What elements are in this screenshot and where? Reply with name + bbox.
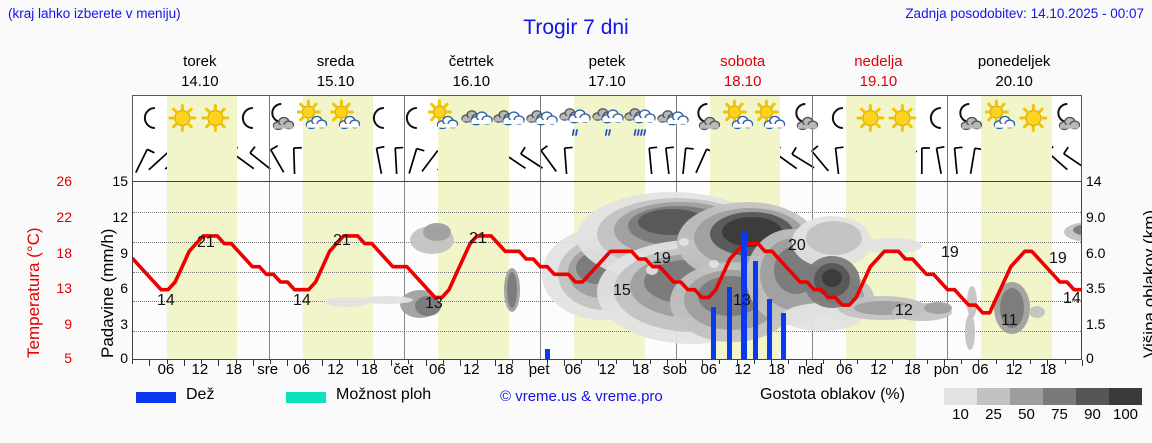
temperature-label: 19 (941, 244, 959, 262)
rain-bar (753, 261, 758, 359)
x-axis-tickmark (1065, 360, 1066, 364)
sun-icon (166, 97, 199, 141)
temperature-label: 21 (469, 230, 487, 248)
prec-axis-tick: 15 (96, 173, 128, 189)
last-update-text: Zadnja posodobitev: 14.10.2025 - 00:07 (905, 6, 1144, 21)
moon-cloud-icon (952, 97, 985, 141)
x-axis-tickmark (944, 360, 945, 366)
x-axis-tickmark (633, 360, 634, 366)
moon-icon (919, 97, 952, 141)
x-axis-tickmark (961, 360, 962, 364)
day-date: 15.10 (268, 72, 404, 92)
x-axis-tickmark (149, 360, 150, 366)
x-axis-tickmark (564, 360, 565, 366)
x-axis-tickmark (737, 360, 738, 366)
cloud-rain-icon (559, 97, 592, 141)
x-axis-tickmark (287, 360, 288, 366)
density-swatch (1109, 388, 1142, 405)
prec-axis-tick: 9 (96, 245, 128, 261)
temperature-label: 20 (788, 237, 806, 255)
cloud-icon (526, 97, 559, 141)
cld-axis-tick: 6.0 (1086, 245, 1118, 261)
prec-axis-tick: 3 (96, 316, 128, 332)
x-axis-tickmark (408, 360, 409, 364)
moon-icon (231, 97, 264, 141)
x-axis-tickmark (667, 360, 668, 366)
temperature-label: 13 (425, 295, 443, 313)
x-axis-tickmark (909, 360, 910, 366)
day-separator (947, 143, 948, 181)
x-axis-tickmark (702, 360, 703, 366)
day-date: 16.10 (403, 72, 539, 92)
day-header-četrtek: četrtek16.10 (403, 52, 539, 92)
x-axis-tickmark (996, 360, 997, 364)
day-separator (812, 143, 813, 181)
sun-cloud-icon (755, 97, 788, 141)
rain-bar (727, 287, 732, 359)
temp-axis-tick: 22 (40, 209, 72, 225)
day-name: torek (132, 52, 268, 72)
cloud-rain-icon (592, 97, 625, 141)
temperature-label: 11 (1001, 312, 1018, 330)
x-axis-tickmark (685, 360, 686, 364)
day-header-strip: torek14.10sreda15.10četrtek16.10petek17.… (132, 52, 1082, 95)
temperature-label: 21 (197, 234, 215, 252)
weather-icon-band (132, 95, 1082, 143)
x-axis-tickmark (201, 360, 202, 364)
temperature-curve (133, 182, 1081, 359)
density-tick: 10 (946, 406, 976, 423)
x-axis-tickmark (1030, 360, 1031, 364)
daylight-band (710, 143, 781, 181)
day-separator (540, 143, 541, 181)
moon-icon (133, 97, 166, 141)
temperature-label: 14 (1063, 290, 1081, 308)
day-header-ponedeljek: ponedeljek20.10 (946, 52, 1082, 92)
cld-axis-tick: 1.5 (1086, 316, 1118, 332)
density-tick: 90 (1078, 406, 1108, 423)
x-axis-tickmark (1082, 360, 1083, 366)
density-tick: 100 (1111, 406, 1141, 423)
density-tick: 50 (1012, 406, 1042, 423)
x-axis-tickmark (1013, 360, 1014, 366)
x-axis-tickmark (547, 360, 548, 364)
moon-cloud-icon (1050, 97, 1083, 141)
sun-icon (886, 97, 919, 141)
x-axis-tickmark (391, 360, 392, 366)
day-name: nedelja (811, 52, 947, 72)
day-date: 14.10 (132, 72, 268, 92)
prec-axis-tick: 6 (96, 280, 128, 296)
x-axis-tickmark (823, 360, 824, 364)
moon-icon (821, 97, 854, 141)
daylight-band (981, 143, 1052, 181)
cloud-axis-title: Višina oblakov (km) (1140, 210, 1152, 358)
temperature-label: 14 (157, 292, 175, 310)
x-axis-tickmark (581, 360, 582, 364)
x-axis-tickmark (322, 360, 323, 366)
density-tick: 75 (1045, 406, 1075, 423)
day-header-nedelja: nedelja19.10 (811, 52, 947, 92)
density-swatch (944, 388, 977, 405)
sun-cloud-icon (723, 97, 756, 141)
x-axis-tickmark (529, 360, 530, 366)
temp-axis-tick: 9 (40, 316, 72, 332)
day-separator (269, 143, 270, 181)
forecast-graph[interactable]: 142114211321151913201219111914 (132, 181, 1082, 360)
daylight-band (438, 143, 509, 181)
day-date: 18.10 (675, 72, 811, 92)
x-axis-tickmark (788, 360, 789, 364)
day-name: petek (539, 52, 675, 72)
showers-legend-label: Možnost ploh (336, 386, 431, 404)
rain-legend-label: Dež (186, 386, 214, 404)
temp-axis-tick: 26 (40, 173, 72, 189)
moon-cloud-icon (788, 97, 821, 141)
sun-icon (1017, 97, 1050, 141)
rain-bar (711, 307, 716, 359)
sun-cloud-icon (985, 97, 1018, 141)
day-date: 19.10 (811, 72, 947, 92)
day-name: sobota (675, 52, 811, 72)
moon-icon (362, 97, 395, 141)
temp-axis-tick: 13 (40, 280, 72, 296)
x-axis-tickmark (806, 360, 807, 366)
sun-cloud-icon (330, 97, 363, 141)
moon-cloud-icon (690, 97, 723, 141)
x-axis-tickmark (167, 360, 168, 364)
x-axis-tickmark (512, 360, 513, 364)
x-axis-tickmark (598, 360, 599, 366)
x-axis-tickmark (132, 360, 133, 364)
x-axis-tickmark (650, 360, 651, 364)
temperature-label: 14 (293, 292, 311, 310)
x-axis-tickmark (1047, 360, 1048, 366)
temperature-label: 19 (653, 250, 671, 268)
temperature-label: 15 (613, 282, 631, 300)
day-header-torek: torek14.10 (132, 52, 268, 92)
sun-icon (854, 97, 887, 141)
density-swatch (977, 388, 1010, 405)
rain-legend-swatch (136, 392, 176, 403)
x-axis-tickmark (840, 360, 841, 366)
moon-cloud-icon (264, 97, 297, 141)
x-axis-tickmark (218, 360, 219, 366)
x-axis-tickmark (460, 360, 461, 366)
density-tick: 25 (979, 406, 1009, 423)
cloud-icon (657, 97, 690, 141)
x-axis-tickmark (357, 360, 358, 366)
prec-axis-tick: 0 (96, 350, 128, 366)
rain-bar (767, 299, 772, 359)
x-axis-tickmark (875, 360, 876, 366)
x-axis-tickmark (495, 360, 496, 366)
moon-icon (395, 97, 428, 141)
x-axis-tickmark (927, 360, 928, 364)
density-swatch (1010, 388, 1043, 405)
x-axis-tickmark (184, 360, 185, 366)
sun-icon (199, 97, 232, 141)
x-axis-tickmark (978, 360, 979, 366)
sun-cloud-icon (428, 97, 461, 141)
cloud-density-legend-title: Gostota oblakov (%) (760, 386, 905, 404)
x-axis-tickmark (477, 360, 478, 364)
x-axis-tickmark (305, 360, 306, 364)
temp-axis-tick: 5 (40, 350, 72, 366)
showers-legend-swatch (286, 392, 326, 403)
copyright-text[interactable]: © vreme.us & vreme.pro (500, 388, 663, 405)
x-axis-tickmark (771, 360, 772, 366)
x-axis-tickmark (443, 360, 444, 364)
cld-axis-tick: 3.5 (1086, 280, 1118, 296)
day-date: 17.10 (539, 72, 675, 92)
day-separator (404, 143, 405, 181)
rain-bar (781, 313, 786, 359)
density-swatch (1043, 388, 1076, 405)
cloud-icon (493, 97, 526, 141)
day-header-sreda: sreda15.10 (268, 52, 404, 92)
temperature-label: 21 (333, 232, 351, 250)
x-axis-tickmark (892, 360, 893, 364)
x-axis-tickmark (339, 360, 340, 364)
cld-axis-tick: 0 (1086, 350, 1118, 366)
x-axis-tickmark (616, 360, 617, 364)
wind-barb-band (132, 143, 1082, 181)
cloud-icon (461, 97, 494, 141)
temperature-label: 19 (1049, 250, 1067, 268)
daylight-band (574, 143, 645, 181)
daylight-band (846, 143, 917, 181)
x-axis-tickmark (754, 360, 755, 364)
x-axis-tickmark (270, 360, 271, 364)
temp-axis-tick: 18 (40, 245, 72, 261)
temperature-label: 12 (895, 302, 913, 320)
day-header-sobota: sobota18.10 (675, 52, 811, 92)
day-name: ponedeljek (946, 52, 1082, 72)
prec-axis-tick: 12 (96, 209, 128, 225)
sun-cloud-icon (297, 97, 330, 141)
temperature-label: 13 (733, 292, 751, 310)
x-axis-tickmark (253, 360, 254, 366)
cld-axis-tick: 9.0 (1086, 209, 1118, 225)
day-separator (676, 143, 677, 181)
day-date: 20.10 (946, 72, 1082, 92)
daylight-band (167, 143, 238, 181)
x-axis-tickmark (426, 360, 427, 366)
x-axis-tickmark (236, 360, 237, 364)
cld-axis-tick: 14 (1086, 173, 1118, 189)
rain-bar (545, 349, 550, 359)
day-name: sreda (268, 52, 404, 72)
density-swatch (1076, 388, 1109, 405)
x-axis-tickmark (857, 360, 858, 364)
x-axis-tickmark (374, 360, 375, 364)
daylight-band (303, 143, 374, 181)
day-name: četrtek (403, 52, 539, 72)
day-header-petek: petek17.10 (539, 52, 675, 92)
cloud-rain-heavy-icon (624, 97, 657, 141)
x-axis-tickmark (719, 360, 720, 364)
